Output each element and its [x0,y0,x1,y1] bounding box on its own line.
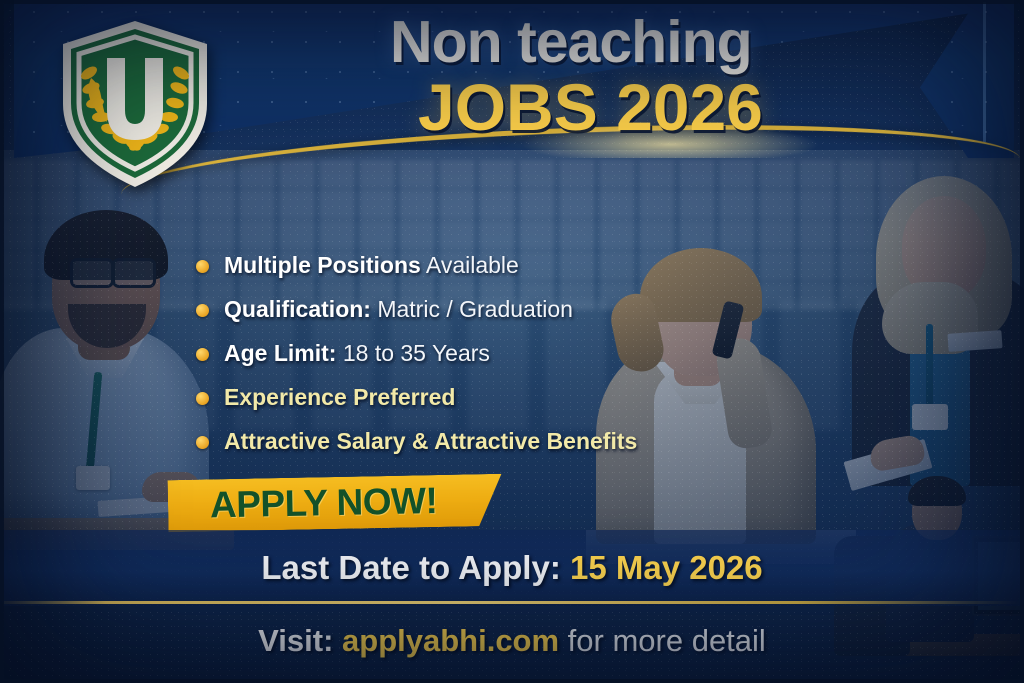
bullet-strong: Multiple Positions [224,252,421,278]
id-badge [76,466,110,490]
bullet-strong: Qualification: [224,296,371,322]
list-item: Multiple Positions Available [196,252,716,280]
university-shield-logo [55,18,215,190]
bullet-rest: Available [421,252,519,278]
bullet-text: Multiple Positions Available [224,252,519,279]
list-item: Qualification: Matric / Graduation [196,296,716,324]
id-badge [912,404,948,430]
bullet-dot-icon [196,260,209,273]
eyeglass-lens-left [70,258,114,288]
job-details-list: Multiple Positions Available Qualificati… [196,252,716,472]
eyeglass-lens-right [112,258,156,288]
bullet-text: Experience Preferred [224,384,455,411]
poster-title: Non teaching JOBS 2026 [390,12,990,141]
list-item: Attractive Salary & Attractive Benefits [196,428,716,456]
list-item: Experience Preferred [196,384,716,412]
bullet-dot-icon [196,348,209,361]
bullet-text: Age Limit: 18 to 35 Years [224,340,490,367]
hair [908,476,966,506]
bullet-dot-icon [196,436,209,449]
website-url[interactable]: applyabhi.com [342,623,559,658]
bullet-dot-icon [196,304,209,317]
bullet-strong: Age Limit: [224,340,336,366]
bullet-dot-icon [196,392,209,405]
bullet-rest: 18 to 35 Years [336,340,489,366]
visit-website-line: Visit: applyabhi.com for more detail [0,623,1024,659]
list-item: Age Limit: 18 to 35 Years [196,340,716,368]
apply-now-button[interactable]: APPLY NOW! [168,474,503,532]
job-advertisement-poster: Non teaching JOBS 2026 [0,0,1024,683]
visit-tail: for more detail [559,623,766,658]
name-tag [947,330,1002,352]
last-date-value: 15 May 2026 [570,549,763,586]
last-date-line: Last Date to Apply: 15 May 2026 [0,549,1024,587]
apply-now-label: APPLY NOW! [210,480,438,526]
lanyard-strap [926,324,933,410]
bullet-rest: Matric / Graduation [371,296,573,322]
title-line-2: JOBS 2026 [418,74,990,141]
bullet-text: Qualification: Matric / Graduation [224,296,573,323]
last-date-label: Last Date to Apply: [261,549,560,586]
gold-divider [4,601,1020,604]
bullet-text: Attractive Salary & Attractive Benefits [224,428,637,455]
photo-woman-in-hijab-with-documents [852,126,1024,486]
visit-label: Visit: [258,623,333,658]
title-line-1: Non teaching [390,12,990,72]
